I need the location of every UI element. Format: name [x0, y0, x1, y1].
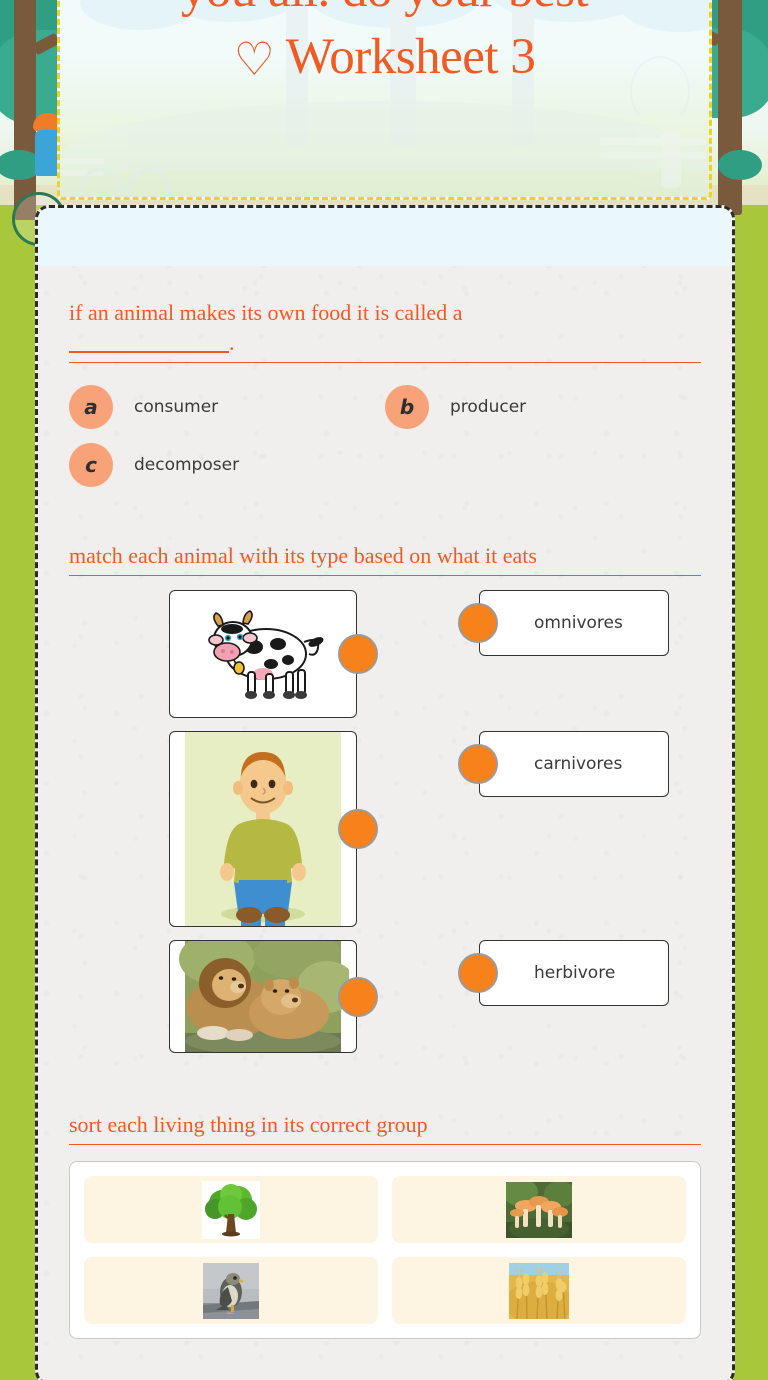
bench-icon: [600, 138, 706, 145]
boy-image-card: [169, 731, 357, 927]
match-dot-carnivores[interactable]: [458, 744, 498, 784]
match-left-lions[interactable]: [169, 940, 357, 1053]
bush-icon: [718, 150, 762, 180]
question-1-text: if an animal makes its own food it is ca…: [69, 300, 462, 325]
match-dot-omnivores[interactable]: [458, 603, 498, 643]
option-b-letter: b: [385, 385, 429, 429]
page-title-line-3: Worksheet 3: [286, 29, 536, 85]
option-a[interactable]: a consumer: [69, 381, 385, 433]
sort-cell-mushrooms[interactable]: [392, 1176, 686, 1243]
page-title: hello grade 3! i miss you all. do your b…: [60, 0, 709, 93]
question-1-prompt: if an animal makes its own food it is ca…: [69, 266, 701, 358]
question-3-heading: sort each living thing in its correct gr…: [69, 1066, 701, 1138]
question-2-heading: match each animal with its type based on…: [69, 497, 701, 569]
question-1-divider: [69, 362, 701, 363]
tree-trunk-icon: [14, 0, 36, 220]
boy-illustration: [177, 732, 349, 926]
hawk-photo: [203, 1263, 259, 1319]
cow-image-card: [169, 590, 357, 718]
answer-carnivores: carnivores: [479, 731, 669, 797]
match-right-carnivores[interactable]: carnivores: [479, 731, 669, 797]
match-right-omnivores[interactable]: omnivores: [479, 590, 669, 656]
option-c-letter: c: [69, 443, 113, 487]
child-body-icon: [661, 148, 681, 188]
match-dot-lions[interactable]: [338, 977, 378, 1017]
match-dot-boy[interactable]: [338, 809, 378, 849]
watermark-hill: [60, 101, 709, 171]
bench-icon: [600, 152, 706, 159]
wheat-photo: [509, 1263, 569, 1319]
tree-illustration: [202, 1181, 260, 1239]
match-left-boy[interactable]: [169, 731, 357, 927]
question-3-block: sort each living thing in its correct gr…: [69, 1066, 701, 1339]
match-dot-herbivore[interactable]: [458, 953, 498, 993]
sort-cell-wheat[interactable]: [392, 1257, 686, 1324]
worksheet-header-banner: hello grade 3! i miss you all. do your b…: [57, 0, 712, 200]
lions-image-card: [169, 940, 357, 1053]
option-b[interactable]: b producer: [385, 381, 701, 433]
match-row: herbivore: [69, 940, 701, 1053]
option-a-label: consumer: [134, 397, 218, 417]
question-1-blank[interactable]: [69, 335, 229, 353]
match-left-cow[interactable]: [169, 590, 357, 718]
lions-photo: [177, 941, 349, 1052]
question-2-block: match each animal with its type based on…: [69, 497, 701, 1053]
tree-trunk-icon: [718, 0, 742, 215]
mushrooms-photo: [506, 1182, 572, 1238]
match-row: omnivores: [69, 590, 701, 718]
cow-illustration: [188, 602, 338, 706]
match-dot-cow[interactable]: [338, 634, 378, 674]
option-c-label: decomposer: [134, 455, 239, 475]
question-1-options: a consumer b producer c decomposer: [69, 381, 701, 497]
sort-cell-tree[interactable]: [84, 1176, 378, 1243]
option-b-label: producer: [450, 397, 526, 417]
match-right-herbivore[interactable]: herbivore: [479, 940, 669, 1006]
match-row: carnivores: [69, 731, 701, 927]
question-2-divider: [69, 575, 701, 576]
answer-omnivores: omnivores: [479, 590, 669, 656]
page-title-line-2: you all. do your best: [181, 0, 588, 18]
question-3-divider: [69, 1144, 701, 1145]
answer-herbivore: herbivore: [479, 940, 669, 1006]
question-1-period: .: [229, 330, 235, 355]
matching-area: omnivores: [69, 590, 701, 1053]
sort-cell-hawk[interactable]: [84, 1257, 378, 1324]
sort-grid: [69, 1161, 701, 1339]
option-a-letter: a: [69, 385, 113, 429]
worksheet-card: if an animal makes its own food it is ca…: [35, 205, 735, 1380]
question-1-block: if an animal makes its own food it is ca…: [69, 266, 701, 497]
option-c[interactable]: c decomposer: [69, 439, 385, 491]
bench-icon: [60, 158, 104, 164]
heart-icon: ♡: [234, 34, 275, 85]
